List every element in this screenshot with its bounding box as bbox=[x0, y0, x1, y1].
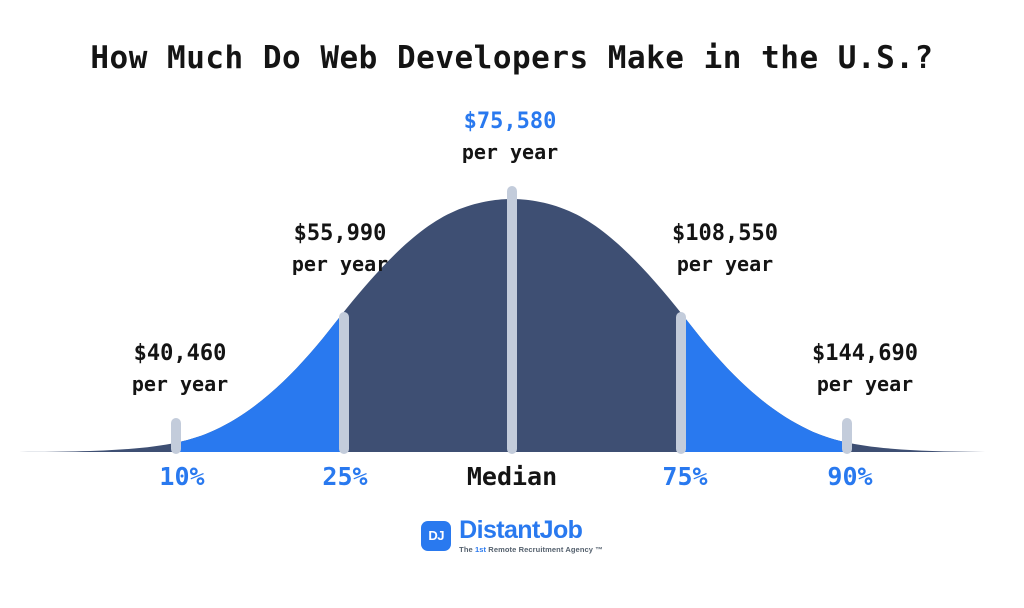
callout-p10-unit: per year bbox=[85, 371, 275, 397]
logo-tagline-first: 1st bbox=[475, 545, 486, 554]
marker-p10[interactable] bbox=[171, 418, 181, 454]
page-title: How Much Do Web Developers Make in the U… bbox=[0, 40, 1024, 76]
axis-label-p10: 10% bbox=[122, 462, 242, 491]
marker-median[interactable] bbox=[507, 186, 517, 454]
distantjob-logo[interactable]: DJ DistantJob The 1st Remote Recruitment… bbox=[0, 518, 1024, 554]
marker-p25[interactable] bbox=[339, 312, 349, 454]
callout-p75: $108,550 per year bbox=[625, 220, 825, 277]
callout-p10-amount: $40,460 bbox=[85, 340, 275, 369]
curve-fill-navy bbox=[0, 180, 1024, 455]
distantjob-logo-icon: DJ bbox=[421, 521, 451, 551]
curve-fill-group bbox=[0, 180, 1024, 455]
axis-label-p90: 90% bbox=[790, 462, 910, 491]
callout-p90-amount: $144,690 bbox=[765, 340, 965, 369]
logo-wordmark: DistantJob bbox=[459, 518, 582, 543]
callout-p25-unit: per year bbox=[245, 251, 435, 277]
logo-tagline: The 1st Remote Recruitment Agency ™ bbox=[459, 546, 603, 554]
marker-p90[interactable] bbox=[842, 418, 852, 454]
logo-tagline-after: Remote Recruitment Agency ™ bbox=[486, 545, 603, 554]
callout-p90-unit: per year bbox=[765, 371, 965, 397]
callout-p75-amount: $108,550 bbox=[625, 220, 825, 249]
callout-median-unit: per year bbox=[415, 139, 605, 165]
callout-p25-amount: $55,990 bbox=[245, 220, 435, 249]
infographic-root: How Much Do Web Developers Make in the U… bbox=[0, 0, 1024, 608]
callout-p10: $40,460 per year bbox=[85, 340, 275, 397]
axis-label-p75: 75% bbox=[625, 462, 745, 491]
axis-label-p25: 25% bbox=[285, 462, 405, 491]
logo-text-block: DistantJob The 1st Remote Recruitment Ag… bbox=[459, 518, 603, 554]
logo-tagline-before: The bbox=[459, 545, 475, 554]
callout-p75-unit: per year bbox=[625, 251, 825, 277]
callout-median: $75,580 per year bbox=[415, 108, 605, 165]
callout-p25: $55,990 per year bbox=[245, 220, 435, 277]
marker-p75[interactable] bbox=[676, 312, 686, 454]
callout-median-amount: $75,580 bbox=[415, 108, 605, 137]
callout-p90: $144,690 per year bbox=[765, 340, 965, 397]
axis-label-median: Median bbox=[437, 462, 587, 491]
